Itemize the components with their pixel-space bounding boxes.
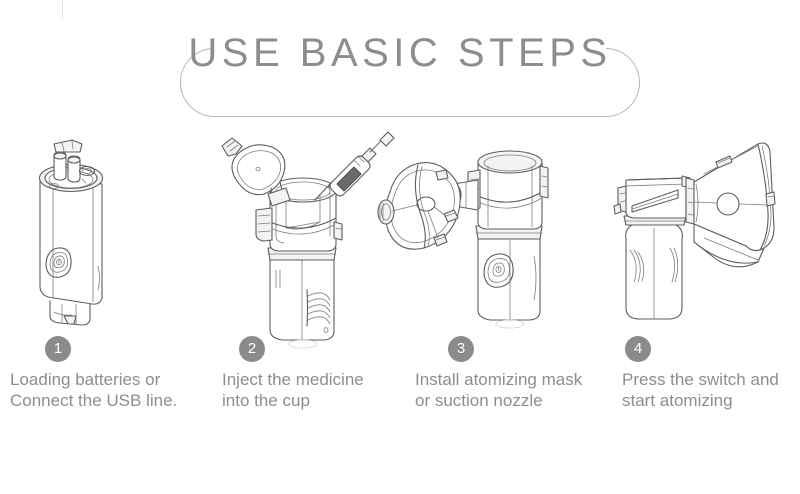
edge-artifact-line [62,0,63,18]
step-caption-2: Inject the medicine into the cup [222,369,364,411]
steps-row: 1 Loading batteries or Connect the USB l… [0,126,800,426]
header: USE BASIC STEPS [0,20,800,115]
instruction-graphic: USE BASIC STEPS [0,0,800,494]
illustration-nebulizer-with-detached-mask [362,126,582,342]
illustration-nebulizer-battery-compartment-open [10,126,140,342]
step-item-3: 3 Install atomizing mask or suction nozz… [400,126,600,426]
page-title: USE BASIC STEPS [0,31,800,76]
step-caption-4: Press the switch and start atomizing [622,369,779,411]
illustration-nebulizer-cup-open-with-syringe [208,118,388,334]
illustration-nebulizer-assembled-with-mask-side-view [608,132,798,348]
step-badge-2: 2 [239,336,265,362]
step-badge-3: 3 [448,336,474,362]
step-caption-1: Loading batteries or Connect the USB lin… [10,369,177,411]
step-caption-3: Install atomizing mask or suction nozzle [415,369,582,411]
step-badge-1: 1 [45,336,71,362]
step-item-4: 4 Press the switch and start atomizing [600,126,800,426]
step-item-1: 1 Loading batteries or Connect the USB l… [0,126,200,426]
step-badge-4: 4 [625,336,651,362]
